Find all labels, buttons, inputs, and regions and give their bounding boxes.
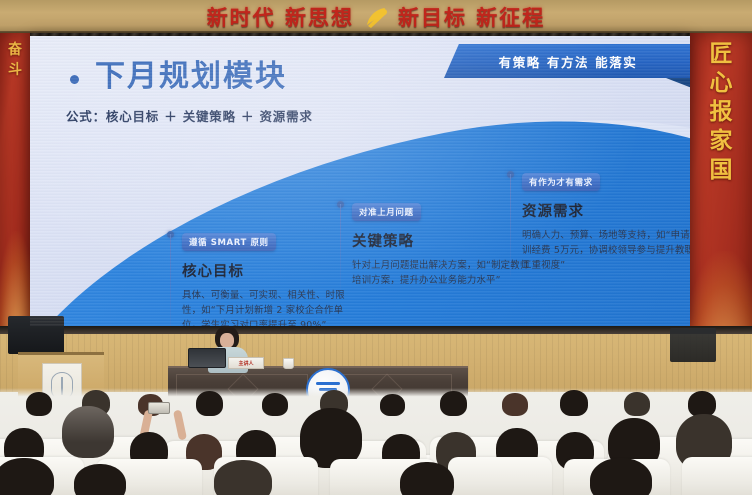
water-cup bbox=[283, 358, 294, 369]
hammer-and-sickle-icon bbox=[363, 5, 389, 29]
audience-head bbox=[380, 394, 405, 416]
slide-card-body: 明确人力、预算、场地等支持，如“申请培训经费 5万元，协调校领导参与提升教职工重… bbox=[522, 228, 690, 274]
left-wall-banner: 奋 斗 bbox=[0, 33, 30, 333]
connector-line bbox=[340, 204, 341, 290]
audience-head bbox=[26, 392, 52, 416]
presenter-nameplate: 主讲人 bbox=[228, 357, 264, 369]
raised-arm bbox=[173, 409, 187, 440]
top-banner: 新时代 新思想 新目标 新征程 bbox=[0, 0, 752, 34]
slide-card-key-strategy: 对准上月问题 关键策略 针对上月问题提出解决方案，如“制定教师培训方案，提升办公… bbox=[352, 202, 530, 288]
stage-loudspeaker bbox=[670, 328, 716, 362]
presenter-laptop bbox=[188, 348, 226, 368]
right-banner-char-0: 匠 bbox=[710, 43, 733, 66]
audience-head bbox=[196, 391, 223, 416]
connector-line bbox=[510, 174, 511, 276]
slide-title-row: 下月规划模块 bbox=[70, 62, 287, 92]
slide-card-resource-need: 有作为才有需求 资源需求 明确人力、预算、场地等支持，如“申请培训经费 5万元，… bbox=[522, 172, 690, 274]
conference-hall-photo: 新时代 新思想 新目标 新征程 奋 斗 匠 心 报 家 国 bbox=[0, 0, 752, 495]
audience-head bbox=[62, 406, 114, 458]
right-wall-banner: 匠 心 报 家 国 bbox=[690, 33, 752, 363]
right-banner-char-3: 家 bbox=[710, 130, 733, 153]
top-banner-text-right: 新目标 新征程 bbox=[398, 2, 545, 32]
presenter-face bbox=[220, 333, 234, 348]
slide-card-core-goal: 遵循 SMART 原则 核心目标 具体、可衡量、可实现、相关性、时限性，如“下月… bbox=[182, 232, 360, 326]
right-wall-banner-text: 匠 心 报 家 国 bbox=[690, 43, 752, 182]
audience-head bbox=[624, 392, 650, 416]
slide-subtitle: 公式：核心目标 ＋ 关键策略 ＋ 资源需求 bbox=[66, 106, 313, 125]
right-banner-char-4: 国 bbox=[710, 159, 733, 182]
right-banner-char-2: 报 bbox=[710, 101, 733, 124]
audience-head bbox=[560, 390, 588, 416]
slide-card-title: 关键策略 bbox=[352, 230, 530, 251]
slide-card-body: 具体、可衡量、可实现、相关性、时限性，如“下月计划新增 2 家校企合作单位，学生… bbox=[182, 288, 360, 326]
audience-head bbox=[400, 462, 454, 495]
audience-head bbox=[440, 391, 467, 416]
smartphone bbox=[148, 402, 170, 414]
audience-head bbox=[262, 393, 288, 416]
slide-card-body: 针对上月问题提出解决方案，如“制定教师培训方案，提升办公业务能力水平” bbox=[352, 258, 530, 288]
audience-head bbox=[502, 393, 528, 416]
slide-card-tag: 有作为才有需求 bbox=[522, 173, 600, 191]
top-banner-text-left: 新时代 新思想 bbox=[207, 2, 354, 32]
slide-card-title: 核心目标 bbox=[182, 260, 360, 281]
left-wall-banner-text: 奋 斗 bbox=[0, 43, 30, 77]
slide-ribbon-banner: 有策略 有方法 能落实 bbox=[444, 44, 690, 78]
right-banner-char-1: 心 bbox=[710, 72, 733, 95]
audience-seat bbox=[448, 457, 552, 495]
audience-head bbox=[214, 460, 272, 495]
slide-title: 下月规划模块 bbox=[95, 62, 287, 92]
connector-line bbox=[170, 234, 171, 326]
left-banner-char-0: 奋 bbox=[8, 43, 22, 57]
audience-seat bbox=[682, 457, 752, 495]
audience-head bbox=[590, 458, 652, 495]
left-banner-char-1: 斗 bbox=[8, 63, 22, 77]
audience-head bbox=[74, 464, 126, 495]
projection-screen: 有策略 有方法 能落实 下月规划模块 公式：核心目标 ＋ 关键策略 ＋ 资源需求… bbox=[30, 36, 690, 326]
audience-area bbox=[0, 388, 752, 495]
slide-card-tag: 遵循 SMART 原则 bbox=[182, 233, 276, 251]
ribbon-fold bbox=[666, 78, 690, 88]
bullet-icon bbox=[70, 75, 79, 84]
slide-card-tag: 对准上月问题 bbox=[352, 203, 421, 221]
presenter-nameplate-text: 主讲人 bbox=[238, 360, 253, 367]
stage-monitor bbox=[8, 316, 64, 354]
slide-ribbon-text: 有策略 有方法 能落实 bbox=[499, 52, 638, 71]
slide-card-title: 资源需求 bbox=[522, 200, 690, 221]
